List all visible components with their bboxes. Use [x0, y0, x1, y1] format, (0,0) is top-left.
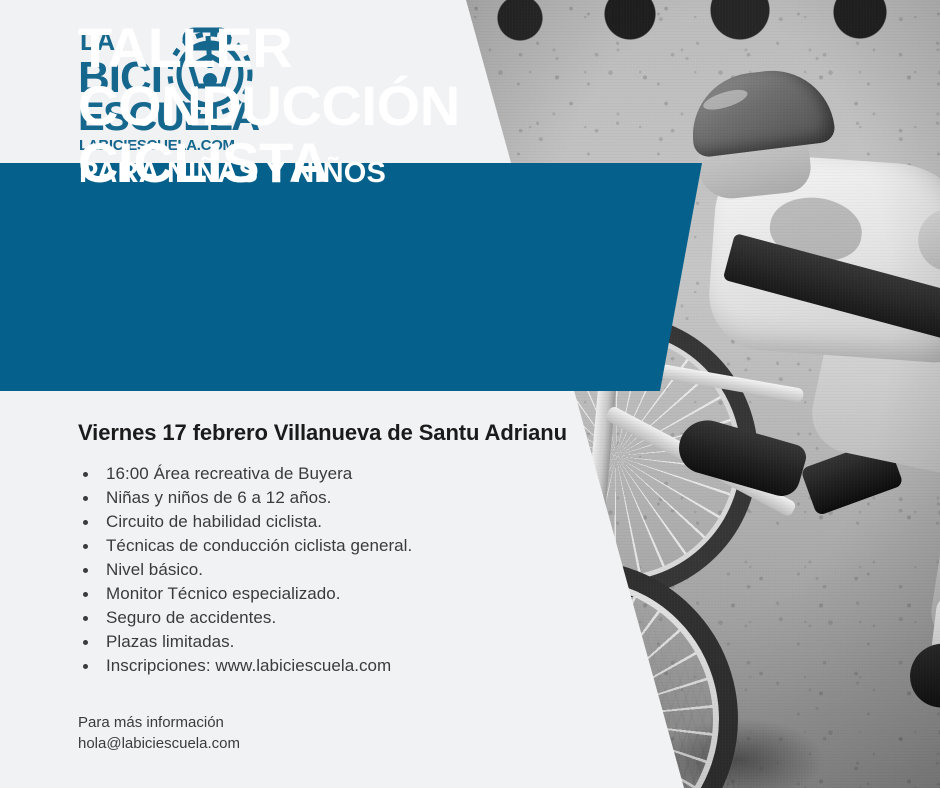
bicycle-kickstand	[449, 587, 534, 643]
page-subtitle: PARA NIÑAS Y NIÑOS	[79, 157, 386, 190]
list-item: Técnicas de conducción ciclista general.	[78, 534, 412, 558]
event-details-list: 16:00 Área recreativa de Buyera Niñas y …	[78, 462, 412, 678]
event-date-location: Viernes 17 febrero Villanueva de Santu A…	[78, 420, 567, 446]
list-item: Circuito de habilidad ciclista.	[78, 510, 412, 534]
list-item: Nivel básico.	[78, 558, 412, 582]
list-item: Monitor Técnico especializado.	[78, 582, 412, 606]
list-item: Seguro de accidentes.	[78, 606, 412, 630]
contact-info: Para más información hola@labiciescuela.…	[78, 712, 240, 754]
bicycle-fender	[447, 544, 610, 730]
bicycle-hub	[507, 674, 600, 701]
list-item: Niñas y niños de 6 a 12 años.	[78, 486, 412, 510]
contact-email[interactable]: hola@labiciescuela.com	[78, 733, 240, 754]
list-item: Plazas limitadas.	[78, 630, 412, 654]
poster-canvas: LA BICI ESCUELA LABICIESCUELA.COM	[0, 0, 940, 788]
list-item-registration-url[interactable]: Inscripciones: www.labiciescuela.com	[78, 654, 412, 678]
headline-banner	[0, 163, 702, 391]
contact-label: Para más información	[78, 712, 240, 733]
list-item: 16:00 Área recreativa de Buyera	[78, 462, 412, 486]
